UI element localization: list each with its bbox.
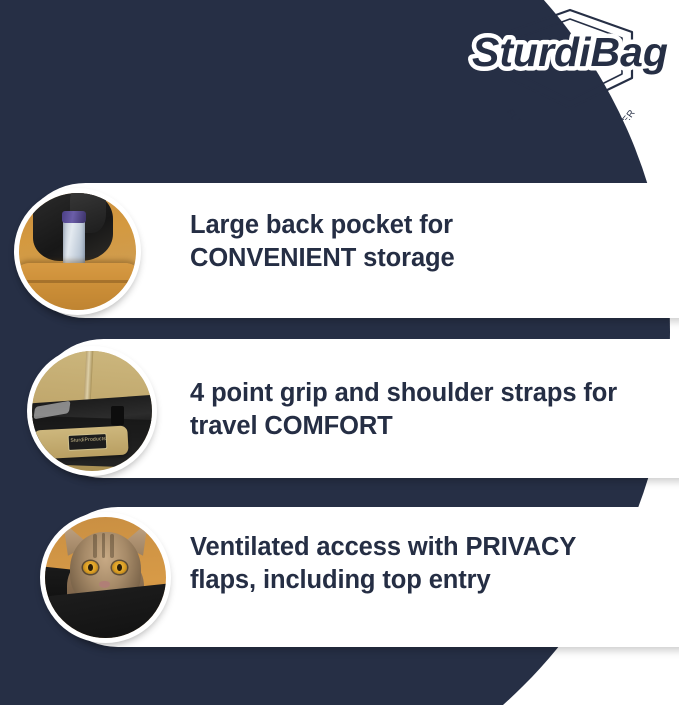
feature-image-grip-straps: SturdiProducts xyxy=(27,346,157,476)
photo-brand-label: SturdiProducts xyxy=(68,433,108,451)
photo-cat-stripe xyxy=(110,534,114,558)
sturdibag-logo: SturdiBag SturdiBag FLEX-HEIGHT PET CARR… xyxy=(468,8,673,120)
photo-cat-stripe xyxy=(93,534,97,558)
photo-brand-label-text: SturdiProducts xyxy=(70,436,106,444)
logo-tagline: FLEX-HEIGHT PET CARRIER xyxy=(504,107,638,120)
photo-cat-pupil-right xyxy=(117,564,122,571)
photo-back-pocket xyxy=(19,263,136,310)
feature-image-grip-straps-frame: SturdiProducts xyxy=(32,351,152,471)
photo-cat-stripe xyxy=(102,533,106,558)
feature-text-ventilated-access: Ventilated access with PRIVACY flaps, in… xyxy=(190,531,576,597)
photo-bottle-cap xyxy=(62,211,85,224)
photo-cat-pupil-left xyxy=(88,564,93,571)
logo-svg: SturdiBag SturdiBag FLEX-HEIGHT PET CARR… xyxy=(468,8,673,120)
photo-pocket-seam xyxy=(19,280,136,283)
feature-text-grip-straps: 4 point grip and shoulder straps for tra… xyxy=(190,377,617,443)
feature-image-back-pocket-frame xyxy=(19,193,136,310)
logo-wordmark: SturdiBag xyxy=(472,29,668,75)
product-feature-infographic: SturdiBag SturdiBag FLEX-HEIGHT PET CARR… xyxy=(0,0,679,705)
feature-image-back-pocket xyxy=(14,188,141,315)
photo-strap-buckle xyxy=(111,406,124,425)
feature-image-ventilated-access xyxy=(40,512,171,643)
feature-text-back-pocket: Large back pocket for CONVENIENT storage xyxy=(190,209,455,275)
feature-image-ventilated-access-frame xyxy=(45,517,166,638)
